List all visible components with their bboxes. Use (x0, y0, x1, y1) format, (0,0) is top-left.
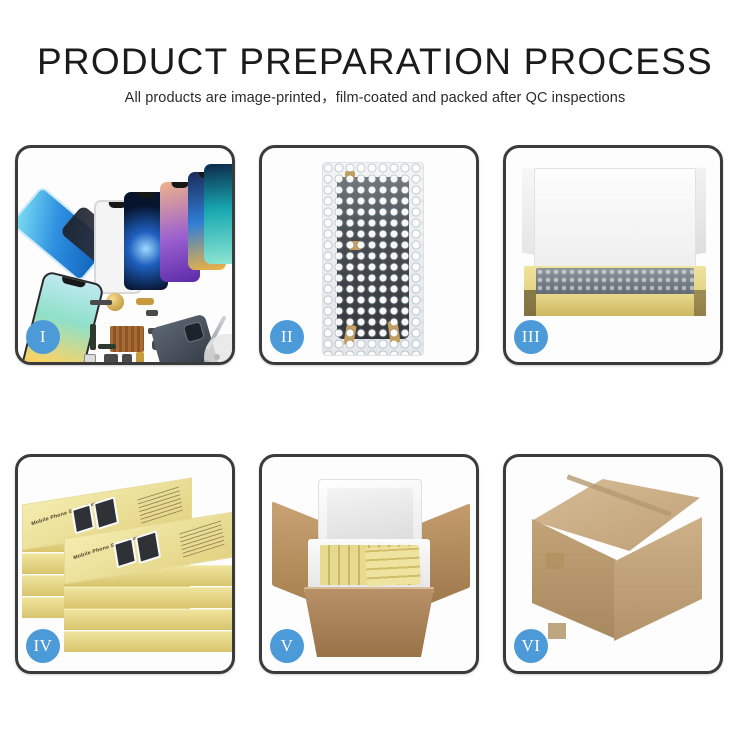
chip-part (146, 310, 158, 316)
stack-box-right (64, 609, 232, 630)
flex-cable-part (98, 344, 116, 349)
stack-box-right (64, 631, 232, 652)
stack-box-right (64, 587, 232, 608)
step-badge-2: II (270, 320, 304, 354)
lid-spec-lines (137, 486, 183, 524)
step-badge-1: I (26, 320, 60, 354)
speaker-part (104, 354, 118, 365)
lid-window-right (93, 496, 119, 530)
chip-gold-part (136, 298, 154, 305)
chip-part (90, 300, 112, 305)
step-badge-6: VI (514, 629, 548, 663)
process-steps-grid: I II III (0, 0, 750, 750)
screw-part (204, 360, 210, 365)
notch-shape (172, 182, 189, 188)
phone-screen-teal (204, 164, 235, 264)
bubble-texture (323, 163, 423, 355)
lid-window-right (135, 530, 161, 564)
phone-screen-large-gradient (17, 270, 105, 365)
carton-body (304, 589, 434, 657)
foam-lid-inner (327, 488, 413, 542)
carton-tape-lower (548, 623, 566, 639)
step-badge-5: V (270, 629, 304, 663)
flex-cable-part (90, 324, 96, 350)
yellow-boxes-inside (365, 546, 421, 587)
box-tray-front (524, 294, 706, 316)
lid-window-left (71, 503, 95, 534)
step-badge-3: III (514, 320, 548, 354)
box-tray-end-left (524, 290, 536, 316)
step-panel-3[interactable]: III (503, 145, 723, 365)
step-panel-1[interactable]: I (15, 145, 235, 365)
step-panel-2[interactable]: II (259, 145, 479, 365)
screw-part (214, 354, 220, 360)
step-panel-6[interactable]: VI (503, 454, 723, 674)
chip-part (122, 354, 132, 364)
notch-shape (137, 192, 155, 198)
box-lid-white (534, 168, 696, 278)
battery-connector-part (136, 352, 144, 365)
step-badge-4: IV (26, 629, 60, 663)
step-panel-4[interactable]: Mobile Phone Spare Parts Mobile Phone Sp… (15, 454, 235, 674)
bubble-wrap-bag (322, 162, 424, 356)
lid-window-left (113, 537, 137, 568)
camera-lens-shape (183, 321, 205, 343)
step-panel-5[interactable]: V (259, 454, 479, 674)
sim-tray-part (84, 354, 96, 365)
lid-spec-lines (179, 520, 225, 558)
carton-tape-upper (546, 553, 564, 569)
box-tray-end-right (694, 290, 706, 316)
